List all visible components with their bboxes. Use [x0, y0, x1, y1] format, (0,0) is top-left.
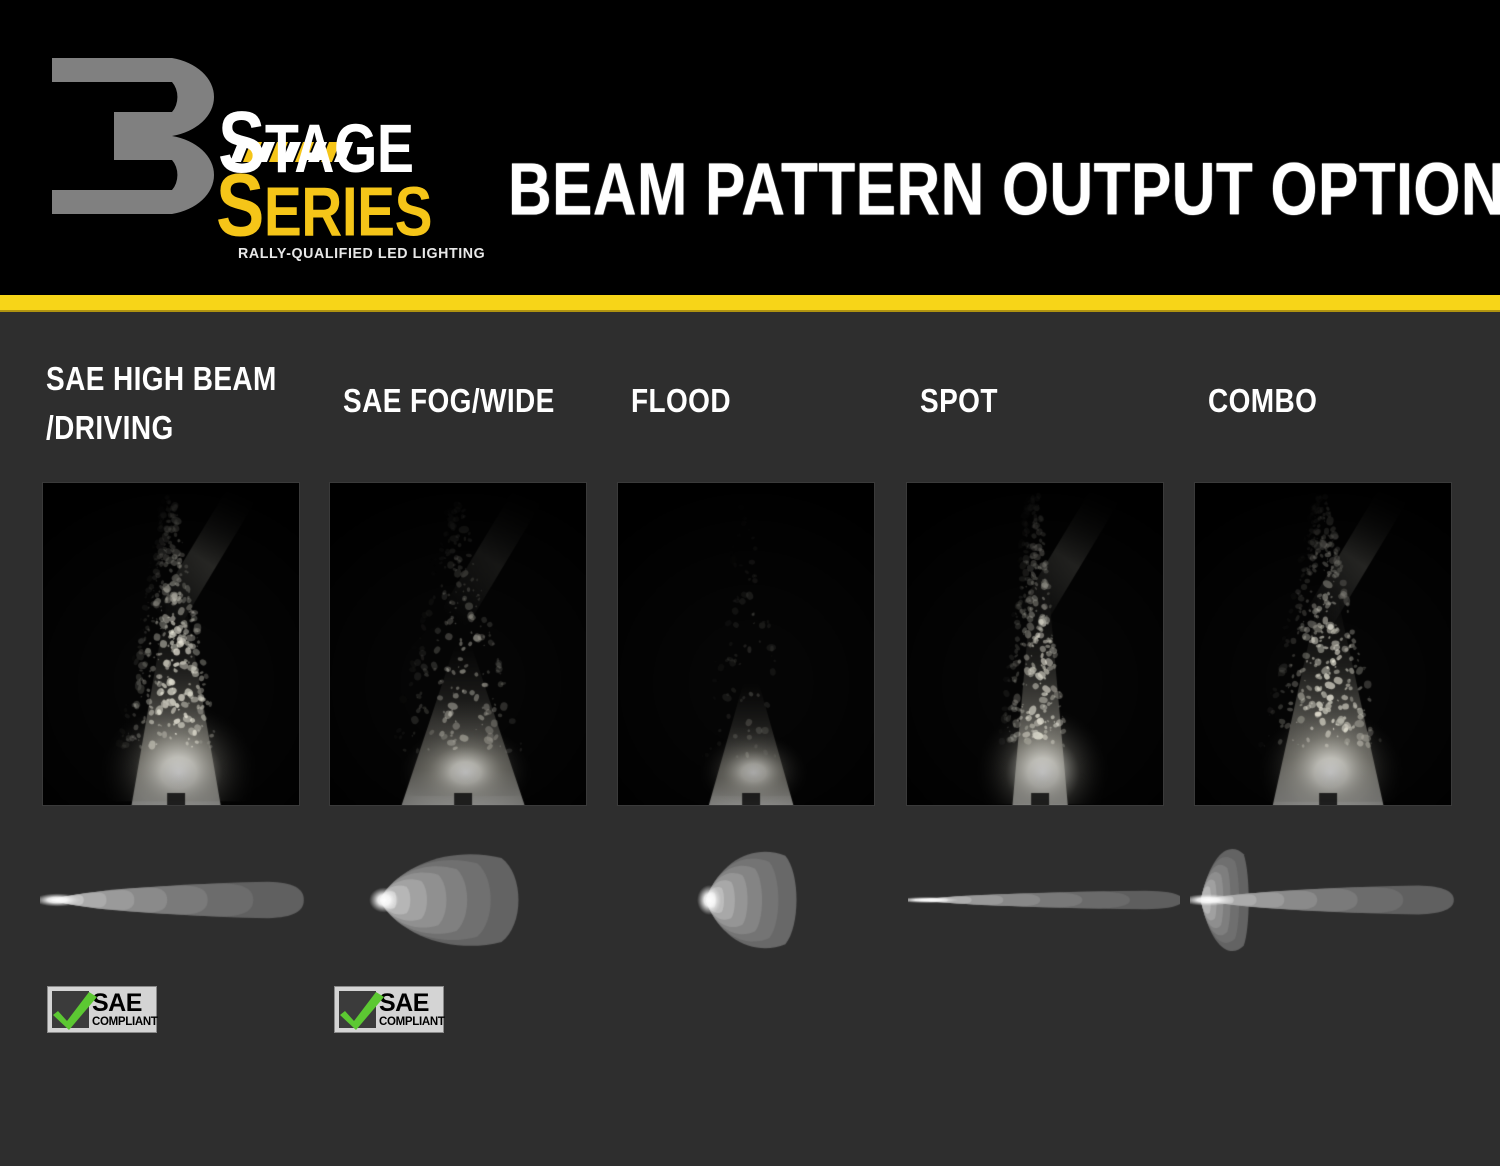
beam-pattern-diagram-combo — [1190, 840, 1462, 960]
logo-series-rest: ERIES — [264, 173, 432, 251]
beam-options-grid: SAE HIGH BEAM /DRIVINGSAECOMPLIANTSAE FO… — [0, 314, 1500, 1166]
accent-bar — [0, 295, 1500, 312]
column-title-sae-high-beam-driving: SAE HIGH BEAM /DRIVING — [46, 354, 346, 452]
column-title-spot: SPOT — [920, 376, 1220, 425]
check-icon — [335, 983, 389, 1035]
column-title-flood: FLOOD — [631, 376, 931, 425]
beam-photo-combo — [1194, 482, 1452, 806]
column-title-sae-fog-wide: SAE FOG/WIDE — [343, 376, 643, 425]
beam-photo-spot — [906, 482, 1164, 806]
poster-root: STAGE SERIES RALLY-QUALIFIED LED LIGHTIN… — [0, 0, 1500, 1166]
logo-series-capital: S — [216, 155, 264, 255]
page-title: BEAM PATTERN OUTPUT OPTIONS — [508, 146, 1500, 231]
logo-tagline: RALLY-QUALIFIED LED LIGHTING — [238, 246, 485, 262]
sae-compliant-badge-sae-high-beam-driving: SAECOMPLIANT — [47, 986, 157, 1033]
beam-pattern-diagram-sae-high-beam-driving — [40, 840, 312, 960]
check-icon — [48, 983, 102, 1035]
column-title-combo: COMBO — [1208, 376, 1500, 425]
brand-logo: STAGE SERIES RALLY-QUALIFIED LED LIGHTIN… — [38, 50, 438, 230]
beam-photo-flood — [617, 482, 875, 806]
sae-compliant-badge-sae-fog-wide: SAECOMPLIANT — [334, 986, 444, 1033]
sae-checkbox — [339, 991, 376, 1028]
beam-photo-sae-high-beam-driving — [42, 482, 300, 806]
logo-numeral-3-icon — [46, 52, 226, 220]
logo-word-series: SERIES — [216, 154, 432, 256]
sae-checkbox — [52, 991, 89, 1028]
header-bar: STAGE SERIES RALLY-QUALIFIED LED LIGHTIN… — [0, 0, 1500, 295]
beam-pattern-diagram-spot — [908, 840, 1180, 960]
beam-photo-sae-fog-wide — [329, 482, 587, 806]
beam-pattern-diagram-sae-fog-wide — [369, 840, 641, 960]
